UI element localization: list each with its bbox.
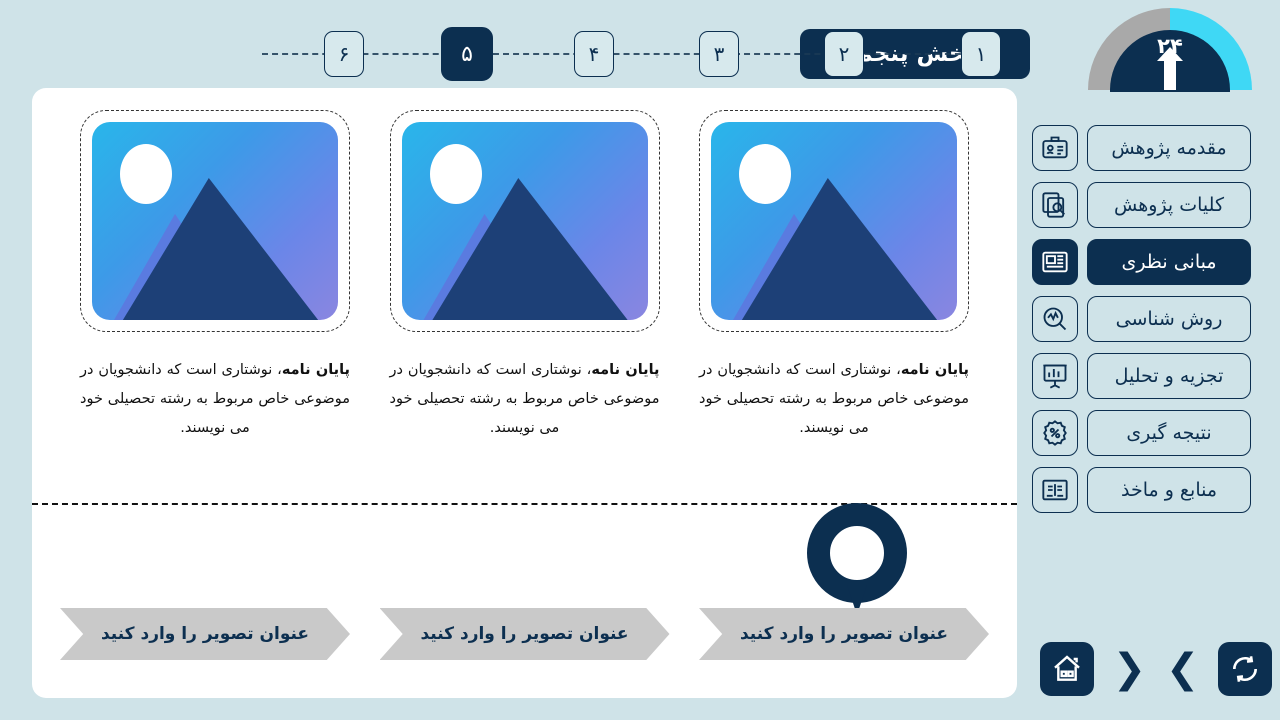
slide-root: بخش پنجم ۶۵۴۳۲۱ ۲۴ پایان نامه، نوشتاری ا… bbox=[0, 0, 1280, 720]
timeline-step-label: ۵ bbox=[461, 42, 473, 67]
sidebar-item-label: روش شناسی bbox=[1116, 308, 1223, 330]
chevron-left-icon[interactable]: ❮ bbox=[1111, 646, 1147, 692]
image-caption-field[interactable]: عنوان تصویر را وارد کنید bbox=[699, 608, 989, 660]
image-placeholder[interactable] bbox=[402, 122, 648, 320]
slide-controls: ❯❮ bbox=[1040, 640, 1272, 698]
content-card: پایان نامه، نوشتاری است که دانشجویان در … bbox=[32, 88, 1017, 698]
caption-row: عنوان تصویر را وارد کنیدعنوان تصویر را و… bbox=[32, 608, 1017, 660]
image-caption-text: عنوان تصویر را وارد کنید bbox=[101, 624, 309, 644]
sidebar-item-label: نتیجه گیری bbox=[1126, 422, 1211, 444]
sidebar-row: مقدمه پژوهش bbox=[1032, 125, 1280, 171]
chevron-right-icon[interactable]: ❯ bbox=[1165, 646, 1201, 692]
gauge-arrow-icon bbox=[1164, 60, 1176, 90]
timeline-step-label: ۱ bbox=[976, 42, 987, 66]
progress-gauge: ۲۴ bbox=[1088, 8, 1252, 92]
image-placeholder[interactable] bbox=[92, 122, 338, 320]
timeline-step-5[interactable]: ۲ bbox=[824, 31, 864, 77]
timeline-step-6[interactable]: ۱ bbox=[961, 31, 1001, 77]
sidebar-item-label: مقدمه پژوهش bbox=[1111, 137, 1226, 159]
sidebar-item-1[interactable]: مقدمه پژوهش bbox=[1087, 125, 1251, 171]
sidebar-item-3[interactable]: مبانی نظری bbox=[1087, 239, 1251, 285]
image-caption-text: عنوان تصویر را وارد کنید bbox=[740, 624, 948, 644]
refresh-icon[interactable] bbox=[1218, 642, 1272, 696]
body-paragraph: پایان نامه، نوشتاری است که دانشجویان در … bbox=[390, 356, 660, 443]
sidebar-row: تجزیه و تحلیل bbox=[1032, 353, 1280, 399]
paragraph-lead-term: پایان نامه bbox=[591, 362, 659, 378]
image-placeholder-frame[interactable] bbox=[80, 110, 350, 332]
sidebar-item-5[interactable]: تجزیه و تحلیل bbox=[1087, 353, 1251, 399]
section-nav-sidebar: مقدمه پژوهشکلیات پژوهشمبانی نظریروش شناس… bbox=[1032, 125, 1280, 705]
chart-board-icon[interactable] bbox=[1032, 353, 1078, 399]
analysis-search-icon[interactable] bbox=[1032, 296, 1078, 342]
body-paragraph: پایان نامه، نوشتاری است که دانشجویان در … bbox=[699, 356, 969, 443]
image-caption-text: عنوان تصویر را وارد کنید bbox=[420, 624, 628, 644]
paragraph-lead-term: پایان نامه bbox=[282, 362, 350, 378]
timeline-step-label: ۳ bbox=[714, 42, 725, 66]
timeline-step-1[interactable]: ۶ bbox=[324, 31, 364, 77]
sidebar-item-label: تجزیه و تحلیل bbox=[1115, 365, 1224, 387]
sidebar-row: نتیجه گیری bbox=[1032, 410, 1280, 456]
documents-search-icon[interactable] bbox=[1032, 182, 1078, 228]
timeline-step-label: ۶ bbox=[339, 42, 350, 66]
sidebar-item-label: منابع و ماخذ bbox=[1121, 479, 1217, 501]
paragraph-lead-term: پایان نامه bbox=[901, 362, 969, 378]
article-icon[interactable] bbox=[1032, 239, 1078, 285]
image-caption-field[interactable]: عنوان تصویر را وارد کنید bbox=[380, 608, 670, 660]
id-badge-icon[interactable] bbox=[1032, 125, 1078, 171]
timeline-bar: بخش پنجم ۶۵۴۳۲۱ bbox=[0, 0, 1030, 88]
timeline-step-2[interactable]: ۵ bbox=[441, 27, 493, 81]
sidebar-item-4[interactable]: روش شناسی bbox=[1087, 296, 1251, 342]
sun-icon bbox=[120, 144, 172, 204]
timeline-step-label: ۲ bbox=[839, 42, 850, 66]
sidebar-item-6[interactable]: نتیجه گیری bbox=[1087, 410, 1251, 456]
timeline-step-3[interactable]: ۴ bbox=[574, 31, 614, 77]
sidebar-item-7[interactable]: منابع و ماخذ bbox=[1087, 467, 1251, 513]
sidebar-row: منابع و ماخذ bbox=[1032, 467, 1280, 513]
image-caption-field[interactable]: عنوان تصویر را وارد کنید bbox=[60, 608, 350, 660]
timeline-step-4[interactable]: ۳ bbox=[699, 31, 739, 77]
sidebar-row: مبانی نظری bbox=[1032, 239, 1280, 285]
content-column: پایان نامه، نوشتاری است که دانشجویان در … bbox=[699, 110, 969, 443]
sidebar-item-label: مبانی نظری bbox=[1121, 251, 1216, 273]
sun-icon bbox=[430, 144, 482, 204]
sidebar-row: کلیات پژوهش bbox=[1032, 182, 1280, 228]
timeline-dashed-line bbox=[262, 53, 981, 55]
percent-badge-icon[interactable] bbox=[1032, 410, 1078, 456]
content-column: پایان نامه، نوشتاری است که دانشجویان در … bbox=[80, 110, 350, 443]
image-columns: پایان نامه، نوشتاری است که دانشجویان در … bbox=[32, 110, 1017, 443]
sidebar-item-2[interactable]: کلیات پژوهش bbox=[1087, 182, 1251, 228]
sun-icon bbox=[739, 144, 791, 204]
sidebar-item-label: کلیات پژوهش bbox=[1114, 194, 1224, 216]
sidebar-row: روش شناسی bbox=[1032, 296, 1280, 342]
open-book-icon[interactable] bbox=[1032, 467, 1078, 513]
home-icon[interactable] bbox=[1040, 642, 1094, 696]
image-placeholder-frame[interactable] bbox=[390, 110, 660, 332]
image-placeholder[interactable] bbox=[711, 122, 957, 320]
location-pin-marker bbox=[807, 503, 907, 615]
body-paragraph: پایان نامه، نوشتاری است که دانشجویان در … bbox=[80, 356, 350, 443]
content-column: پایان نامه، نوشتاری است که دانشجویان در … bbox=[390, 110, 660, 443]
timeline-step-label: ۴ bbox=[589, 42, 600, 66]
image-placeholder-frame[interactable] bbox=[699, 110, 969, 332]
